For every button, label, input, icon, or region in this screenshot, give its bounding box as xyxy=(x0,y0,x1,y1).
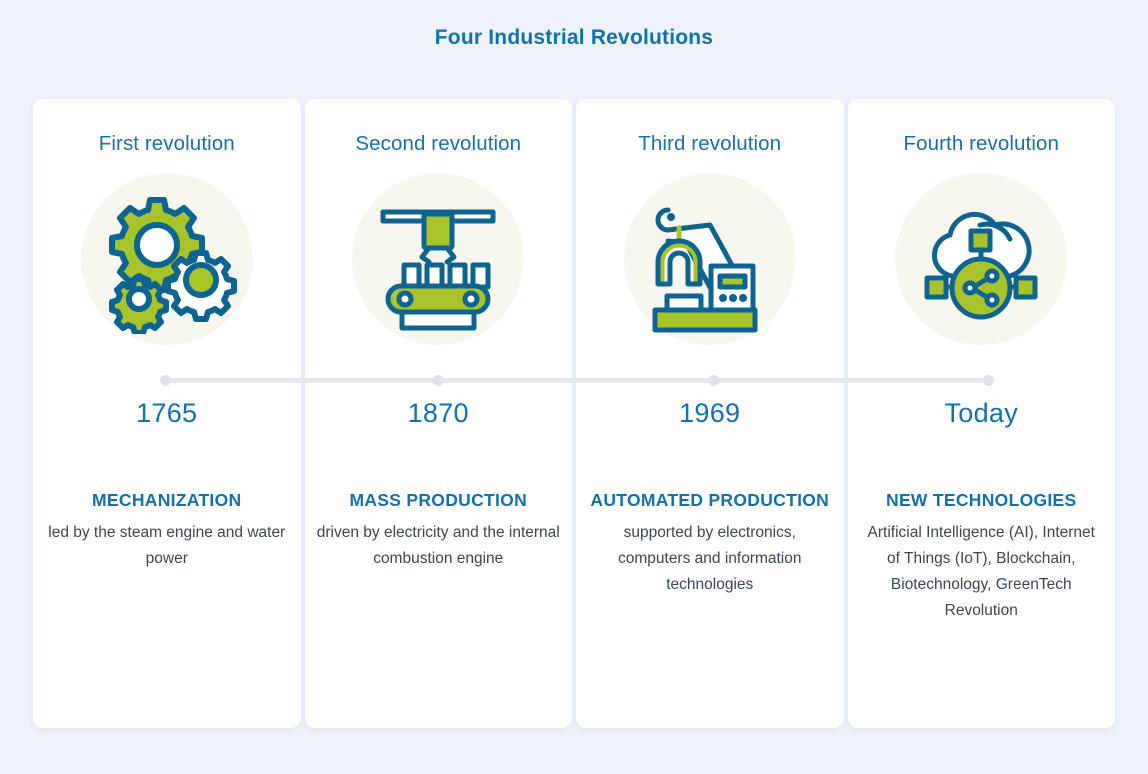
card-headline: AUTOMATED PRODUCTION xyxy=(576,486,843,514)
card-headline: NEW TECHNOLOGIES xyxy=(872,486,1091,514)
card-description: supported by electronics, computers and … xyxy=(576,520,844,598)
card-year: Today xyxy=(944,398,1018,429)
card-headline: MECHANIZATION xyxy=(78,486,255,514)
card-era-label: Fourth revolution xyxy=(903,132,1059,156)
robot-arm-icon xyxy=(624,173,796,345)
cloud-network-icon xyxy=(895,173,1067,345)
gears-icon xyxy=(81,173,253,345)
card-second-revolution[interactable]: Second revolution xyxy=(305,99,573,728)
revolution-cards: First revolution 1765 MECHANIZATION led … xyxy=(33,99,1115,728)
card-third-revolution[interactable]: Third revolution xyxy=(576,99,844,728)
card-first-revolution[interactable]: First revolution 1765 MECHANIZATION led … xyxy=(33,99,301,728)
card-year: 1765 xyxy=(136,398,197,429)
timeline-dot xyxy=(983,375,994,386)
timeline-dot xyxy=(160,375,171,386)
card-description: Artificial Intelligence (AI), Internet o… xyxy=(848,520,1116,624)
card-era-label: Second revolution xyxy=(355,132,521,156)
timeline-track xyxy=(163,378,991,383)
timeline-dot xyxy=(708,375,719,386)
card-fourth-revolution[interactable]: Fourth revolution xyxy=(848,99,1116,728)
card-description: driven by electricity and the internal c… xyxy=(305,520,573,572)
card-headline: MASS PRODUCTION xyxy=(335,486,541,514)
card-year: 1870 xyxy=(408,398,469,429)
card-era-label: First revolution xyxy=(99,132,235,156)
card-description: led by the steam engine and water power xyxy=(33,520,301,572)
card-year: 1969 xyxy=(679,398,740,429)
page-title: Four Industrial Revolutions xyxy=(0,0,1148,50)
assembly-line-icon xyxy=(352,173,524,345)
timeline-dot xyxy=(433,375,444,386)
card-era-label: Third revolution xyxy=(638,132,781,156)
